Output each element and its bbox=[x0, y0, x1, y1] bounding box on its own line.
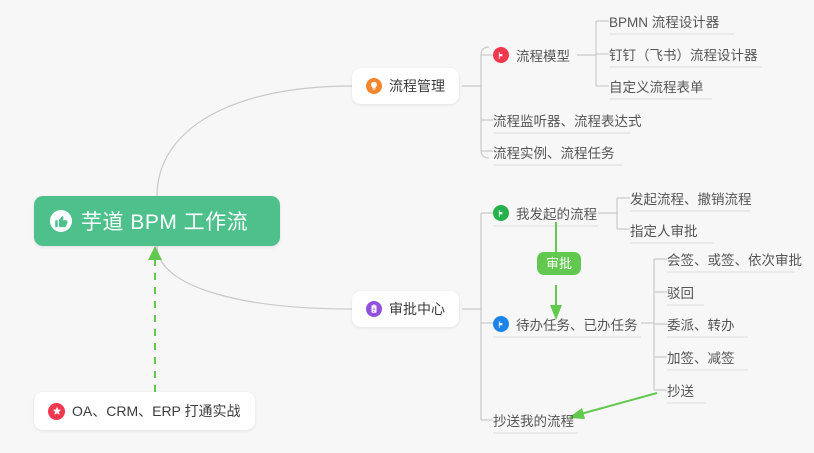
node-process-instance[interactable]: 流程实例、流程任务 bbox=[493, 139, 615, 165]
node-label: 待办任务、已办任务 bbox=[516, 314, 638, 334]
root-node[interactable]: 芋道 BPM 工作流 bbox=[34, 196, 280, 246]
node-add-remove-sign[interactable]: 加签、减签 bbox=[667, 344, 735, 370]
node-countersign[interactable]: 会签、或签、依次审批 bbox=[667, 246, 802, 272]
bottom-card-label: OA、CRM、ERP 打通实战 bbox=[72, 401, 241, 421]
flag-icon bbox=[493, 205, 509, 221]
branch-card-process-management[interactable]: 流程管理 bbox=[352, 68, 459, 104]
node-dingtalk-designer[interactable]: 钉钉（飞书）流程设计器 bbox=[609, 41, 758, 67]
mindmap-canvas: 芋道 BPM 工作流 流程管理 流程模型 BPMN 流程设计器 钉钉（飞书）流程… bbox=[0, 0, 814, 453]
branch-label: 审批中心 bbox=[389, 299, 445, 319]
node-label: 会签、或签、依次审批 bbox=[667, 249, 802, 269]
node-label: BPMN 流程设计器 bbox=[609, 11, 719, 31]
root-label: 芋道 BPM 工作流 bbox=[81, 206, 248, 236]
node-label: 流程监听器、流程表达式 bbox=[493, 110, 642, 130]
node-label: 流程模型 bbox=[516, 45, 570, 65]
node-label: 自定义流程表单 bbox=[609, 76, 704, 96]
bottom-card-integration-practice[interactable]: OA、CRM、ERP 打通实战 bbox=[34, 392, 255, 430]
node-my-started-process[interactable]: 我发起的流程 bbox=[493, 200, 597, 226]
node-carbon-copy[interactable]: 抄送 bbox=[667, 377, 694, 403]
node-label: 抄送 bbox=[667, 380, 694, 400]
annotation-badge-approval: 审批 bbox=[537, 252, 581, 275]
node-delegate-transfer[interactable]: 委派、转办 bbox=[667, 311, 735, 337]
node-cc-to-me-process[interactable]: 抄送我的流程 bbox=[493, 407, 574, 433]
node-assignee-approval[interactable]: 指定人审批 bbox=[630, 217, 698, 243]
node-label: 我发起的流程 bbox=[516, 203, 597, 223]
node-start-cancel-process[interactable]: 发起流程、撤销流程 bbox=[630, 185, 752, 211]
lightbulb-icon bbox=[366, 78, 382, 94]
node-label: 发起流程、撤销流程 bbox=[630, 188, 752, 208]
node-bpmn-designer[interactable]: BPMN 流程设计器 bbox=[609, 8, 719, 34]
node-label: 加签、减签 bbox=[667, 347, 735, 367]
clipboard-icon bbox=[366, 301, 382, 317]
node-label: 委派、转办 bbox=[667, 314, 735, 334]
node-reject[interactable]: 驳回 bbox=[667, 279, 694, 305]
thumbs-up-icon bbox=[50, 210, 72, 232]
node-process-listener[interactable]: 流程监听器、流程表达式 bbox=[493, 107, 642, 133]
branch-card-approval-center[interactable]: 审批中心 bbox=[352, 291, 459, 327]
node-label: 指定人审批 bbox=[630, 220, 698, 240]
node-process-model[interactable]: 流程模型 bbox=[493, 42, 570, 68]
branch-label: 流程管理 bbox=[389, 76, 445, 96]
flag-icon bbox=[493, 47, 509, 63]
flag-icon bbox=[493, 316, 509, 332]
node-label: 抄送我的流程 bbox=[493, 410, 574, 430]
star-icon bbox=[48, 403, 65, 420]
node-label: 钉钉（飞书）流程设计器 bbox=[609, 44, 758, 64]
node-todo-done-task[interactable]: 待办任务、已办任务 bbox=[493, 311, 638, 337]
annotation-label: 审批 bbox=[546, 256, 572, 271]
node-label: 驳回 bbox=[667, 282, 694, 302]
node-custom-form[interactable]: 自定义流程表单 bbox=[609, 73, 704, 99]
node-label: 流程实例、流程任务 bbox=[493, 142, 615, 162]
